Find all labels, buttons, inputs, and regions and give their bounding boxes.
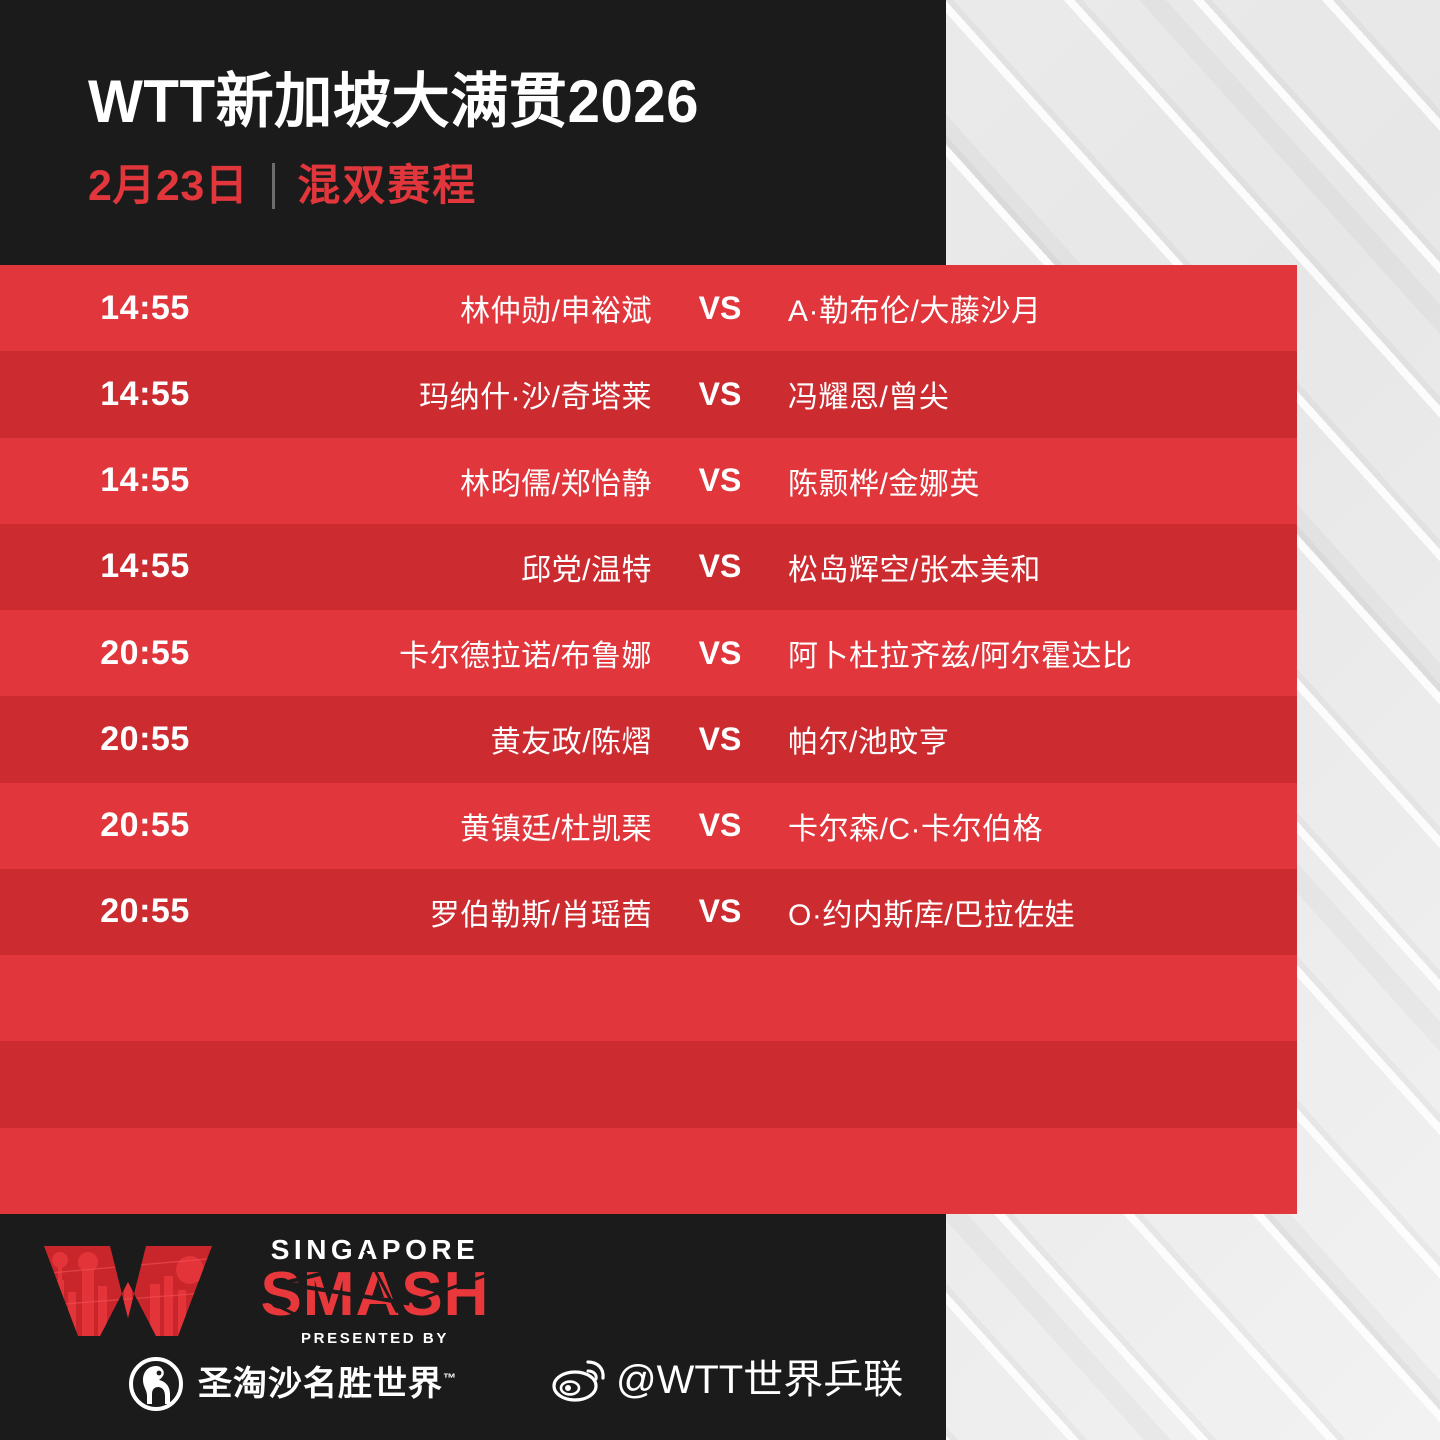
match-time: 20:55 [0,720,290,759]
match-pair-left: 黄友政/陈熠 [290,717,660,761]
logo-smash-text: SMASH [261,1260,490,1329]
match-time: 20:55 [0,892,290,931]
match-time: 14:55 [0,461,290,500]
table-row: 20:55罗伯勒斯/肖瑶茜VSO·约内斯库/巴拉佐娃 [0,869,1297,955]
page-title: WTT新加坡大满贯2026 [88,72,699,132]
header-date: 2月23日 [88,165,248,208]
match-time: 20:55 [0,634,290,673]
sentosa-merlion-icon [128,1356,184,1412]
table-row [0,955,1297,1041]
singapore-smash-logo: SINGAPORE SMASH PRESENTED BY [38,1236,518,1344]
table-row: 20:55黄友政/陈熠VS帕尔/池旼亨 [0,696,1297,782]
match-time: 20:55 [0,806,290,845]
match-vs-label: VS [660,376,780,413]
match-pair-right: 陈颢桦/金娜英 [780,459,1297,503]
table-row [0,1128,1297,1214]
smash-wordmark: SINGAPORE SMASH PRESENTED BY [230,1236,520,1346]
smash-w-skyline-icon [38,1240,218,1340]
match-pair-right: 阿卜杜拉齐兹/阿尔霍达比 [780,631,1297,675]
match-vs-label: VS [660,290,780,327]
logo-smash-label: SMASH [230,1266,520,1325]
match-pair-left: 林仲勋/申裕斌 [290,286,660,330]
match-pair-left: 罗伯勒斯/肖瑶茜 [290,890,660,934]
header-subtitle: 2月23日 混双赛程 [88,163,477,209]
match-vs-label: VS [660,893,780,930]
table-row: 20:55黄镇廷/杜凯琹VS卡尔森/C·卡尔伯格 [0,783,1297,869]
match-pair-left: 玛纳什·沙/奇塔莱 [290,372,660,416]
match-vs-label: VS [660,635,780,672]
match-pair-left: 黄镇廷/杜凯琹 [290,804,660,848]
social-handle-block[interactable]: @WTT世界乒联 [552,1358,903,1402]
match-pair-left: 林昀儒/郑怡静 [290,459,660,503]
match-pair-right: 帕尔/池旼亨 [780,717,1297,761]
sponsor-trademark: ™ [443,1371,457,1386]
match-vs-label: VS [660,807,780,844]
match-pair-right: A·勒布伦/大藤沙月 [780,286,1297,330]
header-panel: WTT新加坡大满贯2026 2月23日 混双赛程 [0,0,946,265]
match-pair-left: 邱党/温特 [290,545,660,589]
match-vs-label: VS [660,548,780,585]
table-row: 14:55林昀儒/郑怡静VS陈颢桦/金娜英 [0,438,1297,524]
match-pair-right: 松岛辉空/张本美和 [780,545,1297,589]
weibo-icon [552,1358,608,1402]
sponsor-block: 圣淘沙名胜世界™ [128,1356,457,1412]
footer-panel: SINGAPORE SMASH PRESENTED BY 圣淘沙名胜世 [0,1214,946,1440]
poster-root: WTT新加坡大满贯2026 2月23日 混双赛程 14:55林仲勋/申裕斌VSA… [0,0,1440,1440]
schedule-table: 14:55林仲勋/申裕斌VSA·勒布伦/大藤沙月14:55玛纳什·沙/奇塔莱VS… [0,265,1297,1214]
header-divider [272,163,275,209]
match-pair-left: 卡尔德拉诺/布鲁娜 [290,631,660,675]
table-row [0,1041,1297,1127]
match-vs-label: VS [660,462,780,499]
table-row: 14:55林仲勋/申裕斌VSA·勒布伦/大藤沙月 [0,265,1297,351]
social-handle-text: @WTT世界乒联 [616,1360,903,1400]
match-time: 14:55 [0,547,290,586]
table-row: 14:55邱党/温特VS松岛辉空/张本美和 [0,524,1297,610]
match-pair-right: 冯耀恩/曾尖 [780,372,1297,416]
match-time: 14:55 [0,375,290,414]
table-row: 14:55玛纳什·沙/奇塔莱VS冯耀恩/曾尖 [0,351,1297,437]
match-pair-right: 卡尔森/C·卡尔伯格 [780,804,1297,848]
match-pair-right: O·约内斯库/巴拉佐娃 [780,890,1297,934]
sponsor-name: 圣淘沙名胜世界™ [198,1367,457,1401]
table-row: 20:55卡尔德拉诺/布鲁娜VS阿卜杜拉齐兹/阿尔霍达比 [0,610,1297,696]
sponsor-name-text: 圣淘沙名胜世界 [198,1365,443,1403]
match-vs-label: VS [660,721,780,758]
presented-by-label: PRESENTED BY [230,1331,520,1346]
match-time: 14:55 [0,289,290,328]
header-event-name: 混双赛程 [297,165,477,208]
